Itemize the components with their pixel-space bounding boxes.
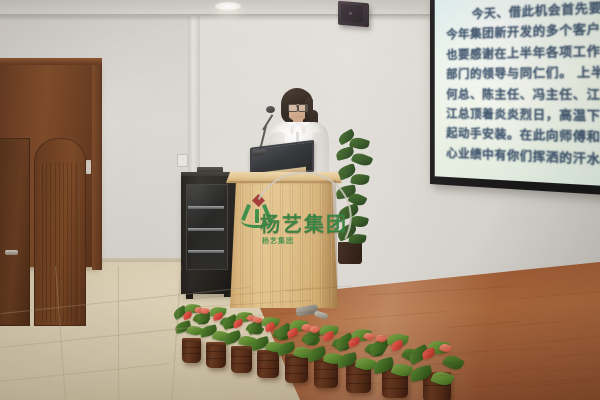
rack-shelf xyxy=(188,228,224,231)
door-grain xyxy=(71,162,72,322)
slide-line: 也要感谢在上半年各项工作中给 xyxy=(446,41,600,66)
microphone-head-icon xyxy=(266,106,275,113)
pot-weave xyxy=(257,360,279,361)
pot-weave xyxy=(231,356,252,357)
slide-line: 何总、陈主任、冯主任、江总等 xyxy=(446,85,600,107)
pot-weave xyxy=(382,388,408,389)
wall-light-switch[interactable] xyxy=(177,154,188,167)
door-latch-icon xyxy=(86,160,91,174)
speaker-driver-dot xyxy=(349,12,352,15)
door-panel-left xyxy=(0,138,30,326)
door-handle-icon[interactable] xyxy=(5,250,18,255)
door-grain xyxy=(55,162,56,322)
door-grain xyxy=(50,162,51,322)
screen-surface: 今天、借此机会首先要特别 今年集团新开发的多个客户部交 也要感谢在上半年各项工作… xyxy=(435,0,600,186)
pot-weave xyxy=(206,351,226,352)
door-grain xyxy=(46,162,47,322)
plant-leaf xyxy=(430,369,454,388)
door-grain xyxy=(67,162,68,322)
wall-mounted-speaker xyxy=(338,1,369,28)
door-grain xyxy=(59,162,60,322)
slide-line: 心业绩中有你们挥洒的汗水与功劳 xyxy=(446,144,600,172)
pot-weave xyxy=(285,373,308,374)
wooden-door[interactable] xyxy=(0,62,96,267)
door-frame-right xyxy=(92,58,102,270)
door-grain xyxy=(63,162,64,322)
pot-weave xyxy=(182,347,201,348)
door-grain xyxy=(76,162,77,322)
door-grain xyxy=(42,162,43,322)
speaker-grille xyxy=(341,4,363,23)
pot-weave xyxy=(257,368,279,369)
av-rack-glass-door[interactable] xyxy=(186,184,228,270)
plant-bloom xyxy=(182,311,193,320)
eyeglasses-lens-right xyxy=(298,104,308,112)
rack-shelf xyxy=(188,206,224,209)
pot-weave xyxy=(206,358,226,359)
slide-line: 部门的领导与同仁们。 上半年来 xyxy=(446,63,600,85)
photo-scene: 今天、借此机会首先要特别 今年集团新开发的多个客户部交 也要感谢在上半年各项工作… xyxy=(0,0,600,400)
slide-text-block: 今天、借此机会首先要特别 今年集团新开发的多个客户部交 也要感谢在上半年各项工作… xyxy=(446,0,600,183)
pot-weave xyxy=(382,378,408,379)
projection-screen: 今天、借此机会首先要特别 今年集团新开发的多个客户部交 也要感谢在上半年各项工作… xyxy=(430,0,600,196)
eyeglasses-bridge xyxy=(296,106,299,107)
door-frame-top xyxy=(0,58,102,65)
ceiling-downlight-icon xyxy=(215,2,241,11)
rack-shelf xyxy=(188,250,224,253)
pot-weave xyxy=(182,353,201,354)
plant-leaf xyxy=(348,233,366,245)
pot-weave xyxy=(231,363,252,364)
